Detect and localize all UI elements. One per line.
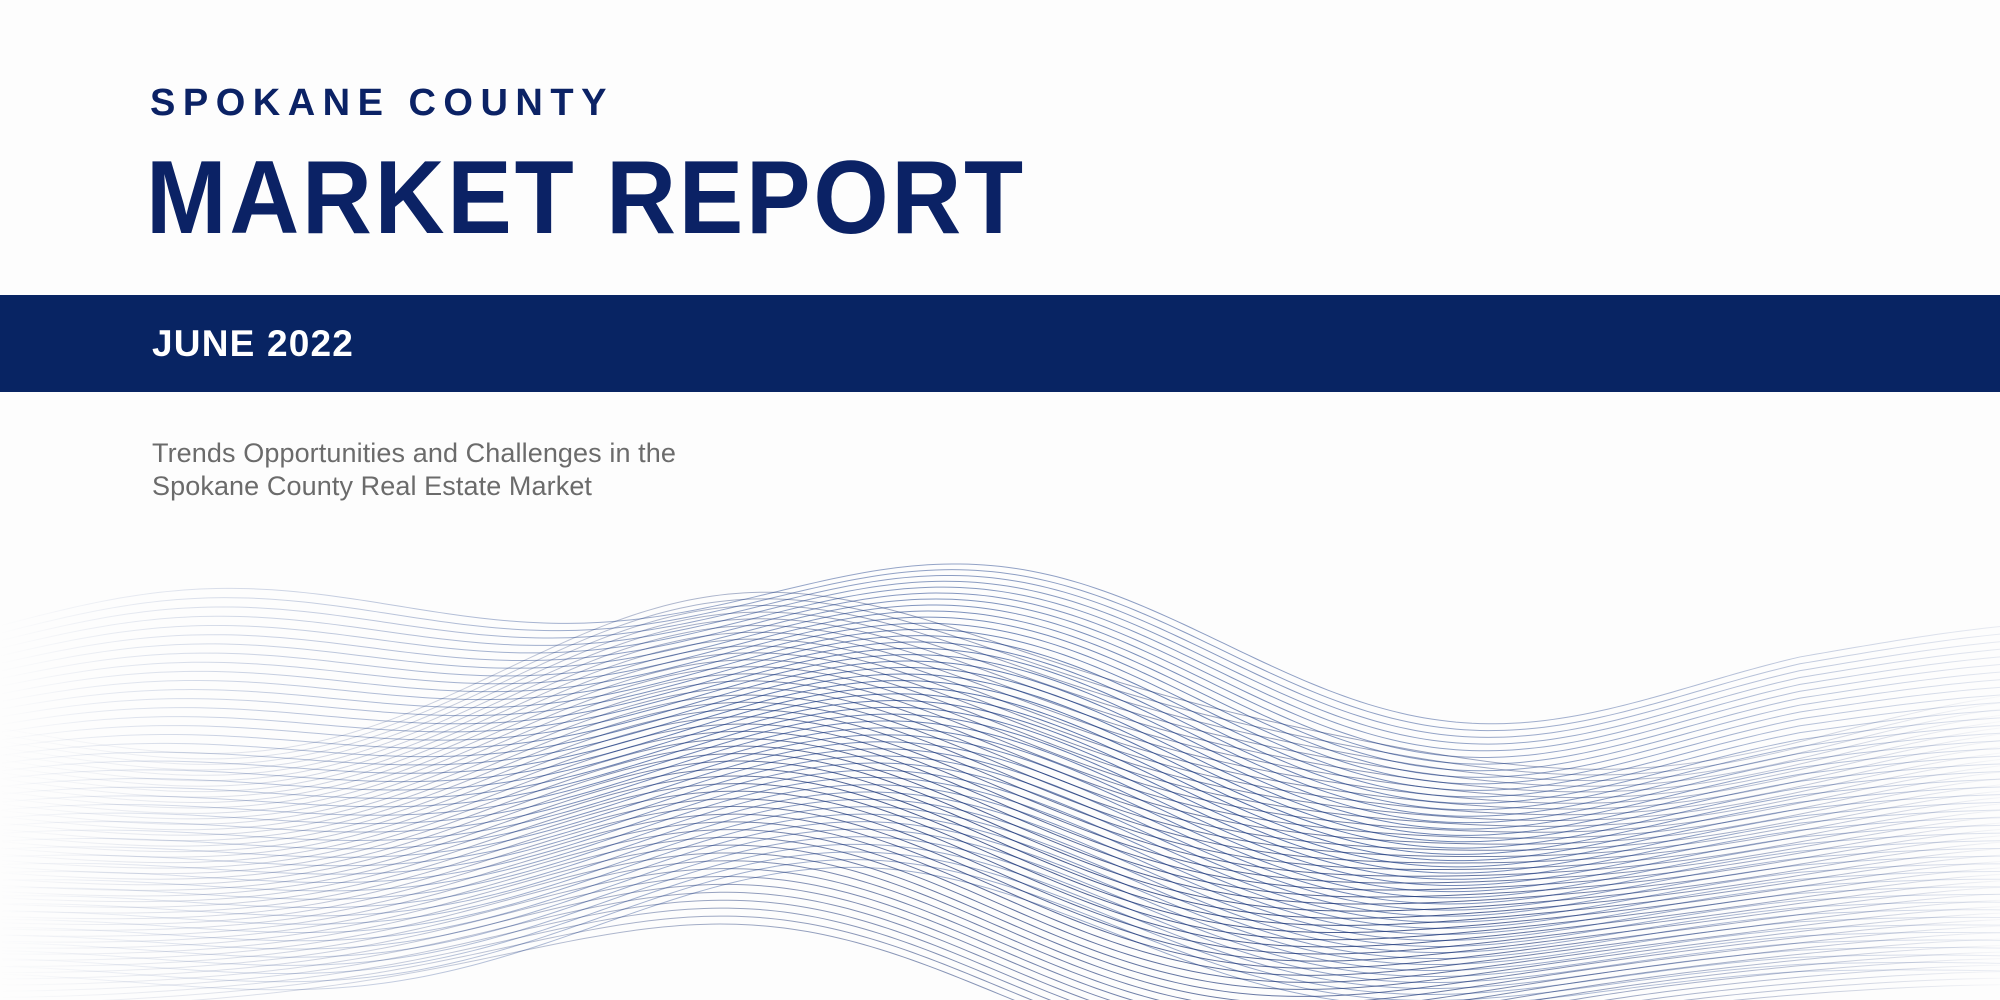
subtitle: Trends Opportunities and Challenges in t… — [152, 437, 676, 503]
subtitle-line-1: Trends Opportunities and Challenges in t… — [152, 437, 676, 470]
subtitle-line-2: Spokane County Real Estate Market — [152, 470, 676, 503]
page-title: MARKET REPORT — [146, 146, 1026, 250]
eyebrow-heading: SPOKANE COUNTY — [150, 84, 614, 122]
date-band: JUNE 2022 — [0, 295, 2000, 392]
report-cover-page: SPOKANE COUNTY MARKET REPORT JUNE 2022 T… — [0, 0, 2000, 1000]
report-date-label: JUNE 2022 — [152, 325, 354, 362]
